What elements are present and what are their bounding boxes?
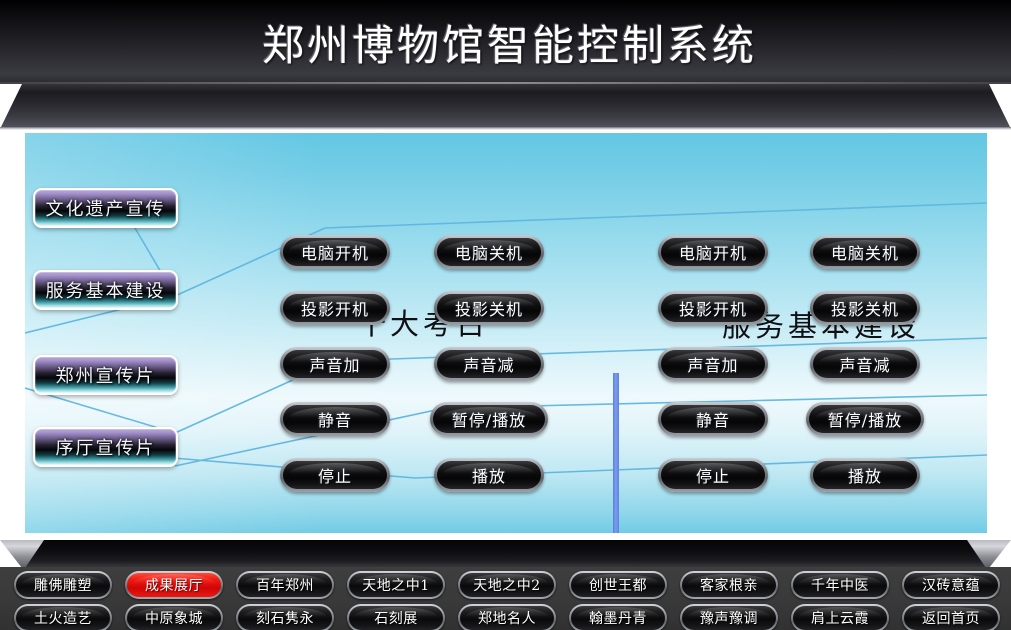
control-button-label: 声音加 — [283, 350, 387, 378]
control-button-p1-c1-r4[interactable]: 播放 — [810, 458, 920, 492]
nav-item-r0-c6[interactable]: 客家根亲 — [680, 571, 778, 599]
nav-item-label: 土火造艺 — [16, 606, 110, 630]
control-button-p0-c1-r3[interactable]: 暂停/播放 — [430, 402, 548, 436]
page-title: 郑州博物馆智能控制系统 — [0, 0, 1011, 84]
control-button-p0-c0-r2[interactable]: 声音加 — [280, 347, 390, 381]
nav-item-label: 肩上云霞 — [793, 606, 887, 630]
control-button-p0-c1-r4[interactable]: 播放 — [434, 458, 544, 492]
sidebar-item-2[interactable]: 郑州宣传片 — [33, 355, 178, 395]
control-button-label: 声音加 — [661, 350, 765, 378]
control-button-label: 电脑开机 — [283, 238, 387, 266]
control-button-label: 投影关机 — [437, 294, 541, 322]
control-button-label: 停止 — [661, 461, 765, 489]
control-button-p1-c0-r0[interactable]: 电脑开机 — [658, 235, 768, 269]
nav-item-label: 客家根亲 — [682, 573, 776, 597]
control-button-label: 投影开机 — [283, 294, 387, 322]
control-button-p1-c1-r1[interactable]: 投影关机 — [810, 291, 920, 325]
nav-item-label: 天地之中2 — [460, 573, 554, 597]
nav-item-label: 百年郑州 — [238, 573, 332, 597]
control-button-p0-c1-r0[interactable]: 电脑关机 — [434, 235, 544, 269]
control-button-p0-c0-r0[interactable]: 电脑开机 — [280, 235, 390, 269]
control-button-p1-c1-r0[interactable]: 电脑关机 — [810, 235, 920, 269]
nav-item-r0-c5[interactable]: 创世王都 — [569, 571, 667, 599]
nav-item-label: 中原象城 — [127, 606, 221, 630]
control-button-p0-c0-r4[interactable]: 停止 — [280, 458, 390, 492]
control-button-p1-c0-r1[interactable]: 投影开机 — [658, 291, 768, 325]
nav-item-label: 返回首页 — [904, 606, 998, 630]
control-button-p1-c0-r3[interactable]: 静音 — [658, 402, 768, 436]
nav-item-label: 天地之中1 — [349, 573, 443, 597]
nav-item-r1-c1[interactable]: 中原象城 — [125, 604, 223, 630]
nav-item-r1-c7[interactable]: 肩上云霞 — [791, 604, 889, 630]
control-button-p0-c1-r1[interactable]: 投影关机 — [434, 291, 544, 325]
nav-item-r1-c2[interactable]: 刻石隽永 — [236, 604, 334, 630]
sidebar-item-1[interactable]: 服务基本建设 — [33, 270, 178, 310]
nav-item-r1-c0[interactable]: 土火造艺 — [14, 604, 112, 630]
nav-item-label: 石刻展 — [349, 606, 443, 630]
nav-item-r0-c8[interactable]: 汉砖意蕴 — [902, 571, 1000, 599]
nav-item-r0-c2[interactable]: 百年郑州 — [236, 571, 334, 599]
nav-item-label: 千年中医 — [793, 573, 887, 597]
nav-item-r0-c7[interactable]: 千年中医 — [791, 571, 889, 599]
bottom-bar-lip-inner — [0, 540, 1011, 568]
header: 郑州博物馆智能控制系统 — [0, 0, 1011, 136]
control-button-label: 停止 — [283, 461, 387, 489]
panel-divider — [613, 373, 619, 533]
control-button-label: 暂停/播放 — [809, 405, 921, 433]
control-button-p1-c0-r2[interactable]: 声音加 — [658, 347, 768, 381]
nav-item-label: 汉砖意蕴 — [904, 573, 998, 597]
control-system-screen: 郑州博物馆智能控制系统 十大考古 服务基本建设 — [0, 0, 1011, 630]
control-button-label: 电脑开机 — [661, 238, 765, 266]
nav-item-r0-c3[interactable]: 天地之中1 — [347, 571, 445, 599]
sidebar-item-3[interactable]: 序厅宣传片 — [33, 427, 178, 467]
nav-item-r1-c3[interactable]: 石刻展 — [347, 604, 445, 630]
control-button-label: 投影开机 — [661, 294, 765, 322]
bottom-nav-bar: 雕佛雕塑成果展厅百年郑州天地之中1天地之中2创世王都客家根亲千年中医汉砖意蕴土火… — [0, 540, 1011, 630]
sidebar-item-0[interactable]: 文化遗产宣传 — [33, 188, 178, 228]
nav-item-label: 刻石隽永 — [238, 606, 332, 630]
control-button-label: 声音减 — [813, 350, 917, 378]
control-button-label: 投影关机 — [813, 294, 917, 322]
control-button-label: 声音减 — [437, 350, 541, 378]
control-button-p0-c0-r3[interactable]: 静音 — [280, 402, 390, 436]
nav-item-label: 郑地名人 — [460, 606, 554, 630]
control-button-p1-c1-r2[interactable]: 声音减 — [810, 347, 920, 381]
control-button-p1-c1-r3[interactable]: 暂停/播放 — [806, 402, 924, 436]
nav-item-r0-c1[interactable]: 成果展厅 — [125, 571, 223, 599]
control-button-label: 静音 — [661, 405, 765, 433]
nav-item-label: 豫声豫调 — [682, 606, 776, 630]
control-button-label: 播放 — [437, 461, 541, 489]
control-button-label: 电脑关机 — [813, 238, 917, 266]
control-button-p1-c0-r4[interactable]: 停止 — [658, 458, 768, 492]
control-button-label: 静音 — [283, 405, 387, 433]
control-button-p0-c0-r1[interactable]: 投影开机 — [280, 291, 390, 325]
nav-item-label: 成果展厅 — [127, 573, 221, 597]
nav-item-r0-c0[interactable]: 雕佛雕塑 — [14, 571, 112, 599]
nav-item-r0-c4[interactable]: 天地之中2 — [458, 571, 556, 599]
control-button-label: 暂停/播放 — [433, 405, 545, 433]
control-button-label: 播放 — [813, 461, 917, 489]
header-shelf — [0, 84, 1011, 129]
nav-item-r1-c6[interactable]: 豫声豫调 — [680, 604, 778, 630]
nav-item-label: 雕佛雕塑 — [16, 573, 110, 597]
nav-item-r1-c8[interactable]: 返回首页 — [902, 604, 1000, 630]
control-button-label: 电脑关机 — [437, 238, 541, 266]
control-button-p0-c1-r2[interactable]: 声音减 — [434, 347, 544, 381]
header-shelf-edge — [0, 127, 1011, 130]
nav-item-label: 创世王都 — [571, 573, 665, 597]
nav-item-r1-c5[interactable]: 翰墨丹青 — [569, 604, 667, 630]
nav-item-label: 翰墨丹青 — [571, 606, 665, 630]
nav-item-r1-c4[interactable]: 郑地名人 — [458, 604, 556, 630]
